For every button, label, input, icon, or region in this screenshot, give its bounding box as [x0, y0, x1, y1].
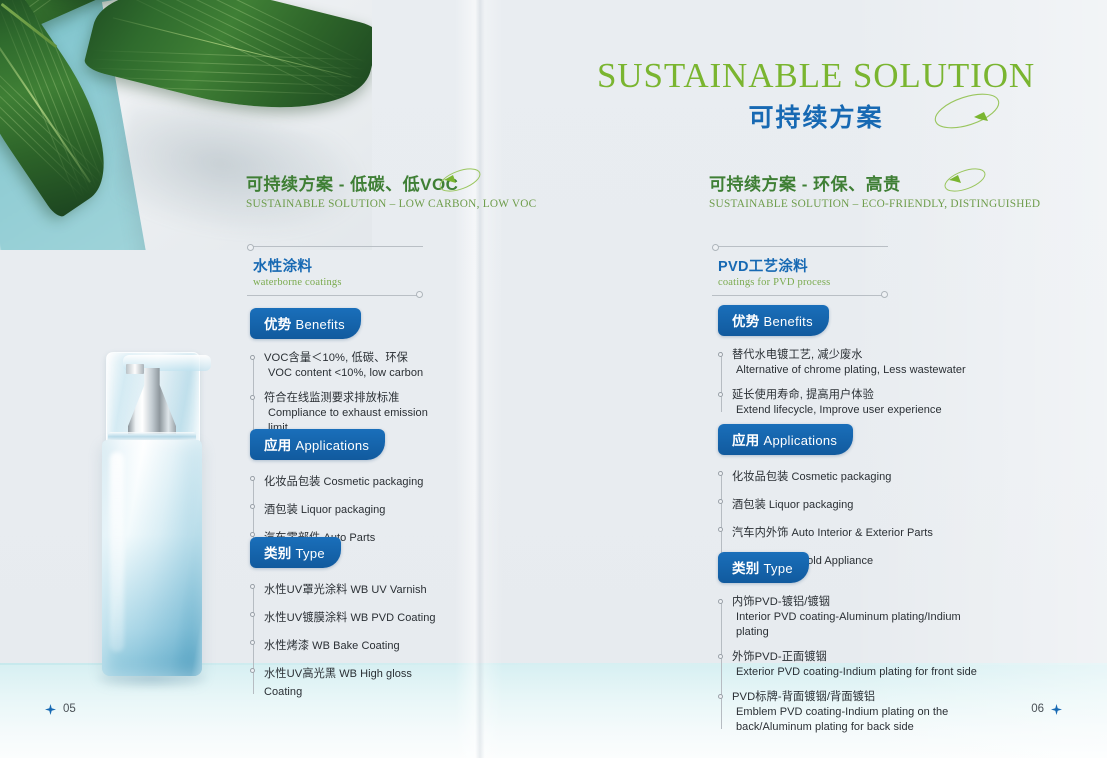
endpoint-dot-icon: [416, 291, 423, 298]
rule: [712, 295, 885, 296]
section-tab-en: Applications: [760, 433, 838, 448]
section-item-list: VOC含量＜10%, 低碳、环保VOC content <10%, low ca…: [250, 351, 440, 436]
page-number-left-value: 05: [63, 703, 76, 715]
list-item: 替代水电镀工艺, 减少废水Alternative of chrome plati…: [732, 348, 968, 378]
item-text-en: Emblem PVD coating-Indium plating on the…: [732, 705, 978, 735]
bullet-dot-icon: [250, 504, 255, 509]
swoosh-ornament-icon: [434, 166, 486, 194]
bullet-dot-icon: [718, 527, 723, 532]
item-text-en: Cosmetic packaging: [788, 471, 891, 483]
rule: [715, 246, 888, 247]
main-title: SUSTAINABLE SOLUTION 可持续方案: [596, 56, 1036, 134]
page-fold: [455, 0, 503, 758]
item-text-cn: PVD标牌-背面镀铟/背面镀铝: [732, 690, 978, 705]
sparkle-icon: [1051, 704, 1062, 715]
bullet-dot-icon: [718, 499, 723, 504]
item-text-cn: VOC含量＜10%, 低碳、环保: [264, 351, 440, 366]
item-text-cn: 化妆品包装: [732, 471, 788, 483]
section-tab-cn: 应用: [732, 433, 760, 448]
section-tab-type[interactable]: 类别 Type: [250, 537, 341, 568]
endpoint-dot-icon: [247, 244, 254, 251]
section-tab-benefits[interactable]: 优势 Benefits: [718, 305, 829, 336]
item-text-en: Alternative of chrome plating, Less wast…: [732, 363, 968, 378]
item-text-en: Exterior PVD coating-Indium plating for …: [732, 665, 978, 680]
item-text-cn: 水性UV高光黑: [264, 668, 336, 680]
section-tab-cn: 优势: [732, 314, 760, 329]
endpoint-dot-icon: [881, 291, 888, 298]
item-text-cn: 符合在线监测要求排放标准: [264, 391, 440, 406]
item-text-cn: 汽车内外饰: [732, 527, 788, 539]
right-subhead-en: coatings for PVD process: [712, 276, 888, 296]
bullet-dot-icon: [718, 352, 723, 357]
rule: [250, 246, 423, 247]
leaf-photo: [0, 0, 372, 250]
page-number-left: 05: [45, 703, 76, 715]
list-item: 化妆品包装Cosmetic packaging: [264, 472, 440, 490]
list-item: 水性UV镀膜涂料WB PVD Coating: [264, 608, 450, 626]
item-text-cn: 内饰PVD-镀铝/镀铟: [732, 595, 978, 610]
bottle-pump-nozzle: [126, 364, 144, 374]
bullet-dot-icon: [250, 612, 255, 617]
bullet-dot-icon: [250, 640, 255, 645]
item-text-cn: 化妆品包装: [264, 476, 320, 488]
list-item: 内饰PVD-镀铝/镀铟Interior PVD coating-Aluminum…: [732, 595, 978, 640]
section-tab-en: Benefits: [760, 314, 813, 329]
product-bottle-image: [92, 352, 210, 682]
item-text-en: Cosmetic packaging: [320, 476, 423, 488]
list-item: 汽车内外饰Auto Interior & Exterior Parts: [732, 523, 968, 541]
item-text-cn: 水性烤漆: [264, 640, 309, 652]
section-tab-en: Applications: [292, 438, 370, 453]
bullet-dot-icon: [718, 392, 723, 397]
item-text-en: VOC content <10%, low carbon: [264, 366, 440, 381]
bullet-dot-icon: [250, 476, 255, 481]
item-text-en: Liquor packaging: [298, 504, 386, 516]
section-tab-en: Type: [292, 546, 325, 561]
section-tab-type[interactable]: 类别 Type: [718, 552, 809, 583]
right-header-en: SUSTAINABLE SOLUTION – ECO-FRIENDLY, DIS…: [709, 198, 1040, 210]
list-item: 水性UV罩光涂料WB UV Varnish: [264, 580, 450, 598]
sparkle-icon: [45, 704, 56, 715]
section-tab-applications[interactable]: 应用 Applications: [250, 429, 385, 460]
section-item-list: 水性UV罩光涂料WB UV Varnish水性UV镀膜涂料WB PVD Coat…: [250, 580, 450, 700]
list-item: 酒包装Liquor packaging: [732, 495, 968, 513]
bullet-dot-icon: [250, 395, 255, 400]
section-right-type: 类别 Type内饰PVD-镀铝/镀铟Interior PVD coating-A…: [718, 552, 978, 745]
item-text-cn: 替代水电镀工艺, 减少废水: [732, 348, 968, 363]
section-tab-cn: 类别: [264, 546, 292, 561]
right-product-family: PVD工艺涂料 coatings for PVD process: [712, 246, 888, 296]
list-item: PVD标牌-背面镀铟/背面镀铝Emblem PVD coating-Indium…: [732, 690, 978, 735]
right-subhead-cn: PVD工艺涂料: [712, 246, 888, 276]
brochure-spread: SUSTAINABLE SOLUTION 可持续方案 可持续方案 - 低碳、低V…: [0, 0, 1107, 758]
left-header-cn: 可持续方案 - 低碳、低VOC: [246, 170, 536, 195]
section-tab-en: Benefits: [292, 317, 345, 332]
list-item: 延长使用寿命, 提高用户体验Extend lifecycle, Improve …: [732, 388, 968, 418]
item-text-cn: 外饰PVD-正面镀铟: [732, 650, 978, 665]
section-tab-cn: 应用: [264, 438, 292, 453]
item-text-en: WB PVD Coating: [347, 612, 435, 624]
item-text-en: Extend lifecycle, Improve user experienc…: [732, 403, 968, 418]
item-text-en: WB UV Varnish: [347, 584, 426, 596]
left-column-header: 可持续方案 - 低碳、低VOC SUSTAINABLE SOLUTION – L…: [246, 170, 536, 210]
main-title-cn: 可持续方案: [596, 98, 1036, 134]
list-item: 化妆品包装Cosmetic packaging: [732, 467, 968, 485]
endpoint-dot-icon: [712, 244, 719, 251]
section-left-type: 类别 Type水性UV罩光涂料WB UV Varnish水性UV镀膜涂料WB P…: [250, 537, 450, 710]
bullet-dot-icon: [250, 668, 255, 673]
section-left-benefits: 优势 BenefitsVOC含量＜10%, 低碳、环保VOC content <…: [250, 308, 440, 446]
left-product-family: 水性涂料 waterborne coatings: [247, 246, 423, 296]
left-subhead-cn: 水性涂料: [247, 246, 423, 276]
swoosh-ornament-icon: [939, 166, 991, 194]
page-number-right: 06: [1031, 703, 1062, 715]
left-subhead-en: waterborne coatings: [247, 276, 423, 296]
list-item: 酒包装Liquor packaging: [264, 500, 440, 518]
list-item: 水性UV高光黑WB High gloss Coating: [264, 664, 450, 700]
section-item-list: 内饰PVD-镀铝/镀铟Interior PVD coating-Aluminum…: [718, 595, 978, 735]
item-text-cn: 酒包装: [732, 499, 766, 511]
section-tab-applications[interactable]: 应用 Applications: [718, 424, 853, 455]
item-text-en: WB Bake Coating: [309, 640, 400, 652]
item-text-cn: 水性UV镀膜涂料: [264, 612, 347, 624]
section-tab-benefits[interactable]: 优势 Benefits: [250, 308, 361, 339]
section-item-list: 化妆品包装Cosmetic packaging酒包装Liquor packagi…: [250, 472, 440, 546]
bullet-dot-icon: [718, 471, 723, 476]
item-text-cn: 酒包装: [264, 504, 298, 516]
section-item-list: 替代水电镀工艺, 减少废水Alternative of chrome plati…: [718, 348, 968, 418]
main-title-en: SUSTAINABLE SOLUTION: [596, 56, 1036, 96]
left-header-en: SUSTAINABLE SOLUTION – LOW CARBON, LOW V…: [246, 198, 536, 210]
rule: [247, 295, 420, 296]
list-item: VOC含量＜10%, 低碳、环保VOC content <10%, low ca…: [264, 351, 440, 381]
bullet-dot-icon: [718, 599, 723, 604]
item-text-en: Liquor packaging: [766, 499, 854, 511]
section-tab-cn: 类别: [732, 561, 760, 576]
item-text-en: Interior PVD coating-Aluminum plating/In…: [732, 610, 978, 640]
bullet-dot-icon: [718, 654, 723, 659]
item-text-cn: 水性UV罩光涂料: [264, 584, 347, 596]
item-text-en: Auto Interior & Exterior Parts: [788, 527, 933, 539]
page-number-right-value: 06: [1031, 703, 1044, 715]
section-right-benefits: 优势 Benefits替代水电镀工艺, 减少废水Alternative of c…: [718, 305, 968, 428]
bullet-dot-icon: [250, 355, 255, 360]
section-tab-en: Type: [760, 561, 793, 576]
right-column-header: 可持续方案 - 环保、高贵 SUSTAINABLE SOLUTION – ECO…: [709, 170, 1040, 210]
list-item: 外饰PVD-正面镀铟Exterior PVD coating-Indium pl…: [732, 650, 978, 680]
section-tab-cn: 优势: [264, 317, 292, 332]
bullet-dot-icon: [250, 584, 255, 589]
list-item: 水性烤漆WB Bake Coating: [264, 636, 450, 654]
bullet-dot-icon: [718, 694, 723, 699]
bottle-highlight: [110, 452, 124, 652]
item-text-cn: 延长使用寿命, 提高用户体验: [732, 388, 968, 403]
